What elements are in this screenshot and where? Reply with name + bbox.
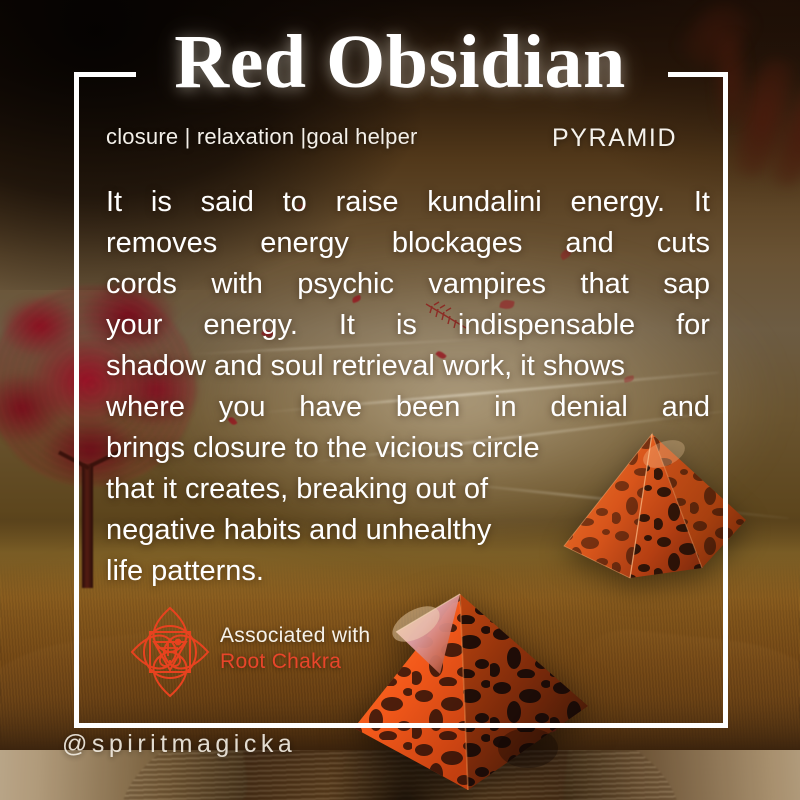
description-line: Itissaidtoraisekundalinienergy.It — [106, 182, 710, 223]
description-line: removesenergyblockagesandcuts — [106, 223, 710, 264]
tree-trunk — [82, 464, 93, 588]
frame-bottom-edge — [74, 723, 728, 728]
frame-left-edge — [74, 72, 79, 728]
keyword-subtitle: closure | relaxation |goal helper — [106, 124, 418, 150]
description-line: life patterns. — [106, 551, 710, 592]
root-chakra-muladhara-symbol-icon — [128, 604, 212, 700]
chakra-text-block: Associated with Root Chakra — [220, 624, 370, 674]
product-info-card: Red Obsidian closure | relaxation |goal … — [0, 0, 800, 800]
chakra-association: Associated with Root Chakra — [128, 604, 458, 702]
description-line: shadow and soul retrieval work, it shows — [106, 346, 710, 387]
description-line: that it creates, breaking out of — [106, 469, 710, 510]
associated-with-label: Associated with — [220, 624, 370, 648]
frame-right-edge — [723, 72, 728, 728]
description-line: whereyouhavebeenindenialand — [106, 387, 710, 428]
description-line: negative habits and unhealthy — [106, 510, 710, 551]
product-variant-label: PYRAMID — [552, 124, 677, 153]
social-handle-watermark: @spiritmagicka — [62, 730, 296, 759]
description-line: cordswithpsychicvampiresthatsap — [106, 264, 710, 305]
description-line: brings closure to the vicious circle — [106, 428, 710, 469]
page-title: Red Obsidian — [0, 24, 800, 102]
description-line: yourenergy.Itisindispensablefor — [106, 305, 710, 346]
description-block: Itissaidtoraisekundalinienergy.It remove… — [106, 182, 710, 592]
chakra-name: Root Chakra — [220, 650, 370, 674]
